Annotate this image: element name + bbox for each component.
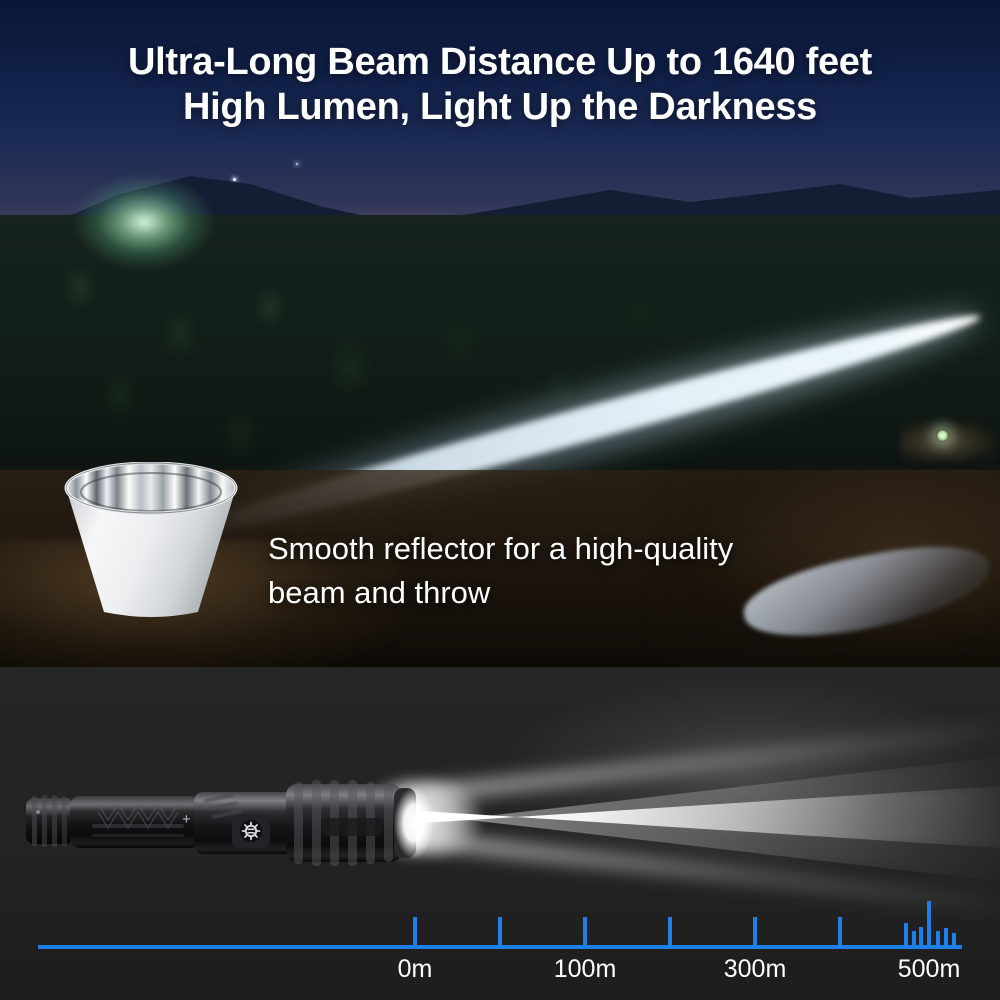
reflector-caption-line-2: beam and throw xyxy=(268,571,968,615)
body-tube: + xyxy=(70,796,200,848)
scale-axis-line xyxy=(38,945,962,949)
scale-tick-label: 500m xyxy=(898,955,961,984)
headline-line-2: High Lumen, Light Up the Darkness xyxy=(0,85,1000,130)
scale-tick-label: 0m xyxy=(398,955,433,984)
tail-cap xyxy=(26,795,74,847)
scale-tick xyxy=(668,917,672,945)
led-emitter xyxy=(394,787,434,859)
scale-tick xyxy=(944,928,948,945)
scale-tick xyxy=(753,917,757,945)
polarity-plus-icon: + xyxy=(182,811,191,828)
smooth-reflector-image xyxy=(52,462,250,620)
scale-tick xyxy=(927,901,931,945)
headline-line-1: Ultra-Long Beam Distance Up to 1640 feet xyxy=(0,40,1000,85)
flashlight-head xyxy=(286,780,434,866)
scale-tick xyxy=(413,917,417,945)
reflector-caption: Smooth reflector for a high-quality beam… xyxy=(268,527,968,615)
scale-tick-label: 100m xyxy=(554,955,617,984)
reflector-caption-line-1: Smooth reflector for a high-quality xyxy=(268,527,968,571)
scale-tick xyxy=(838,917,842,945)
product-marketing-image: Ultra-Long Beam Distance Up to 1640 feet… xyxy=(0,0,1000,1000)
page-title: Ultra-Long Beam Distance Up to 1640 feet… xyxy=(0,40,1000,130)
flashlight-point-of-light xyxy=(936,429,949,442)
switch-section xyxy=(194,792,294,854)
scale-tick xyxy=(583,917,587,945)
beam-origin-rock xyxy=(900,420,996,464)
night-scene-photo: Ultra-Long Beam Distance Up to 1640 feet… xyxy=(0,0,1000,667)
scale-tick xyxy=(919,927,923,945)
tactical-flashlight: + xyxy=(22,762,442,882)
illuminated-hillside-hotspot xyxy=(30,130,330,330)
scale-tick xyxy=(912,931,916,945)
scale-tick xyxy=(904,923,908,945)
scale-tick-label: 300m xyxy=(724,955,787,984)
scale-tick xyxy=(936,931,940,945)
scale-tick xyxy=(952,933,956,945)
scale-tick xyxy=(498,917,502,945)
